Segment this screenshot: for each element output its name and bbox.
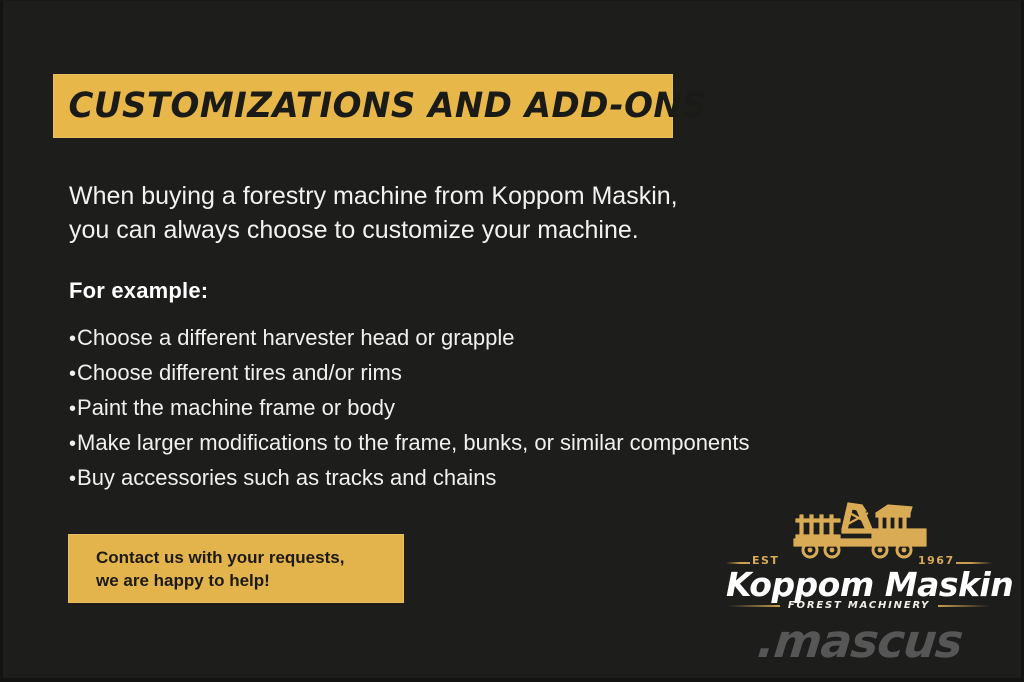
list-item-label: Choose a different harvester head or gra… <box>77 321 514 355</box>
title-banner: CUSTOMIZATIONS AND ADD-ONS <box>53 74 673 138</box>
page-title: CUSTOMIZATIONS AND ADD-ONS <box>53 86 707 126</box>
list-item: • Choose different tires and/or rims <box>69 356 869 391</box>
bullet-icon: • <box>69 357 76 391</box>
list-item: • Buy accessories such as tracks and cha… <box>69 461 869 496</box>
logo-company-name: Koppom Maskin <box>726 565 992 604</box>
logo-tagline-rule-left <box>728 605 780 607</box>
list-item-label: Buy accessories such as tracks and chain… <box>77 461 496 495</box>
logo-tagline-row: FOREST MACHINERY <box>726 600 992 611</box>
list-item: • Make larger modifications to the frame… <box>69 426 869 461</box>
for-example-label: For example: <box>69 278 208 304</box>
logo-tagline: FOREST MACHINERY <box>788 600 930 611</box>
logo-rule-left <box>726 562 750 564</box>
list-item-label: Choose different tires and/or rims <box>77 356 402 390</box>
list-item-label: Paint the machine frame or body <box>77 391 395 425</box>
bullet-icon: • <box>69 462 76 496</box>
list-item-label: Make larger modifications to the frame, … <box>77 426 750 460</box>
logo-rule-right <box>956 562 992 564</box>
contact-line-1: Contact us with your requests, <box>96 546 404 569</box>
bullet-icon: • <box>69 427 76 461</box>
intro-paragraph: When buying a forestry machine from Kopp… <box>69 179 829 247</box>
list-item: • Paint the machine frame or body <box>69 391 869 426</box>
contact-cta-box[interactable]: Contact us with your requests, we are ha… <box>68 534 404 603</box>
bullet-icon: • <box>69 392 76 426</box>
koppom-maskin-logo: EST 1967 Koppom Maskin FOREST MACHINERY <box>726 499 992 613</box>
promo-slide: CUSTOMIZATIONS AND ADD-ONS When buying a… <box>0 0 1024 682</box>
bullet-icon: • <box>69 322 76 356</box>
list-item: • Choose a different harvester head or g… <box>69 321 869 356</box>
mascus-watermark: .mascus <box>755 614 965 668</box>
customization-options-list: • Choose a different harvester head or g… <box>69 321 869 496</box>
intro-line-1: When buying a forestry machine from Kopp… <box>69 179 829 213</box>
logo-tagline-rule-right <box>938 605 990 607</box>
forestry-forwarder-icon <box>776 499 946 561</box>
contact-line-2: we are happy to help! <box>96 569 404 592</box>
intro-line-2: you can always choose to customize your … <box>69 213 829 247</box>
